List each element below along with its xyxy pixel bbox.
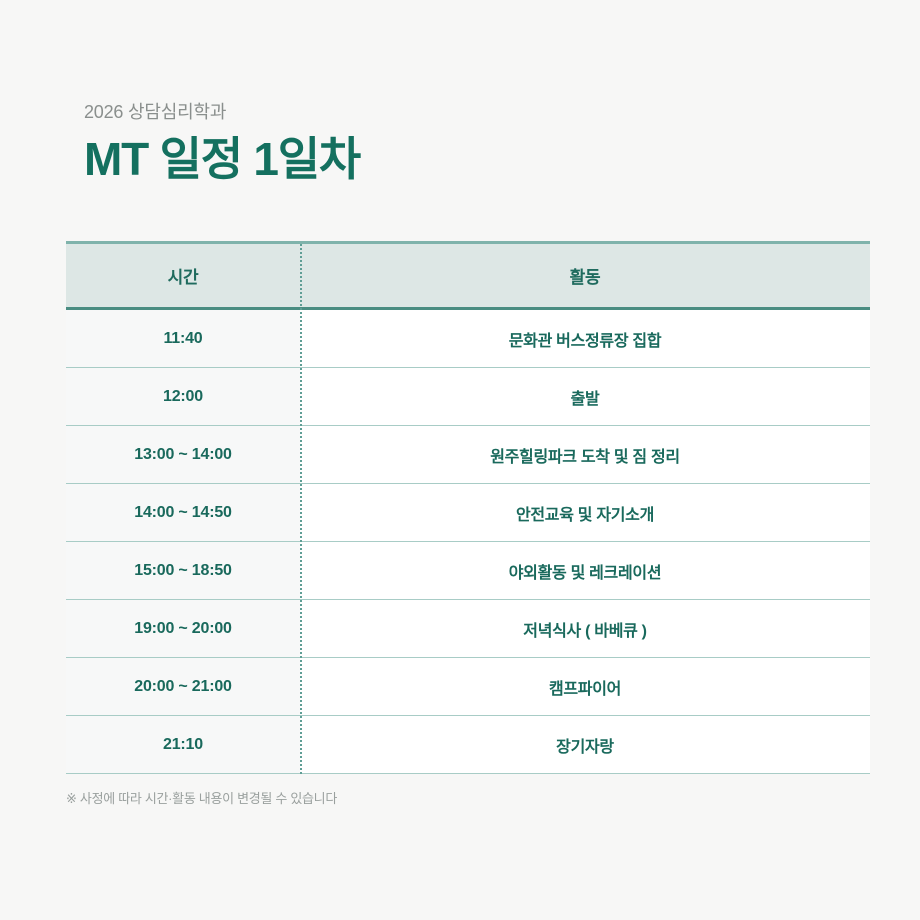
- cell-activity: 장기자랑: [300, 716, 870, 773]
- table-row: 21:10 장기자랑: [66, 716, 870, 774]
- cell-time: 14:00 ~ 14:50: [66, 484, 300, 541]
- table-row: 20:00 ~ 21:00 캠프파이어: [66, 658, 870, 716]
- table-row: 13:00 ~ 14:00 원주힐링파크 도착 및 짐 정리: [66, 426, 870, 484]
- cell-activity: 야외활동 및 레크레이션: [300, 542, 870, 599]
- table-row: 12:00 출발: [66, 368, 870, 426]
- cell-time: 13:00 ~ 14:00: [66, 426, 300, 483]
- table-row: 11:40 문화관 버스정류장 집합: [66, 310, 870, 368]
- cell-activity: 저녁식사 ( 바베큐 ): [300, 600, 870, 657]
- cell-activity: 안전교육 및 자기소개: [300, 484, 870, 541]
- cell-time: 12:00: [66, 368, 300, 425]
- schedule-table: 시간 활동 11:40 문화관 버스정류장 집합 12:00 출발 13:00 …: [66, 241, 870, 774]
- poster-header: 2026 상담심리학과 MT 일정 1일차: [84, 100, 360, 186]
- page-title: MT 일정 1일차: [84, 133, 360, 186]
- poster-eyebrow: 2026 상담심리학과: [84, 100, 360, 125]
- cell-time: 19:00 ~ 20:00: [66, 600, 300, 657]
- cell-time: 21:10: [66, 716, 300, 773]
- cell-time: 11:40: [66, 310, 300, 367]
- cell-activity: 원주힐링파크 도착 및 짐 정리: [300, 426, 870, 483]
- cell-time: 15:00 ~ 18:50: [66, 542, 300, 599]
- footnote-text: ※ 사정에 따라 시간·활동 내용이 변경될 수 있습니다: [66, 788, 337, 807]
- column-header-time: 시간: [66, 244, 300, 307]
- mt-schedule-poster: 2026 상담심리학과 MT 일정 1일차 시간 활동 11:40 문화관 버스…: [0, 0, 920, 920]
- column-header-activity: 활동: [300, 244, 870, 307]
- table-row: 19:00 ~ 20:00 저녁식사 ( 바베큐 ): [66, 600, 870, 658]
- table-header-row: 시간 활동: [66, 244, 870, 310]
- cell-activity: 문화관 버스정류장 집합: [300, 310, 870, 367]
- cell-activity: 출발: [300, 368, 870, 425]
- cell-time: 20:00 ~ 21:00: [66, 658, 300, 715]
- table-row: 14:00 ~ 14:50 안전교육 및 자기소개: [66, 484, 870, 542]
- cell-activity: 캠프파이어: [300, 658, 870, 715]
- table-row: 15:00 ~ 18:50 야외활동 및 레크레이션: [66, 542, 870, 600]
